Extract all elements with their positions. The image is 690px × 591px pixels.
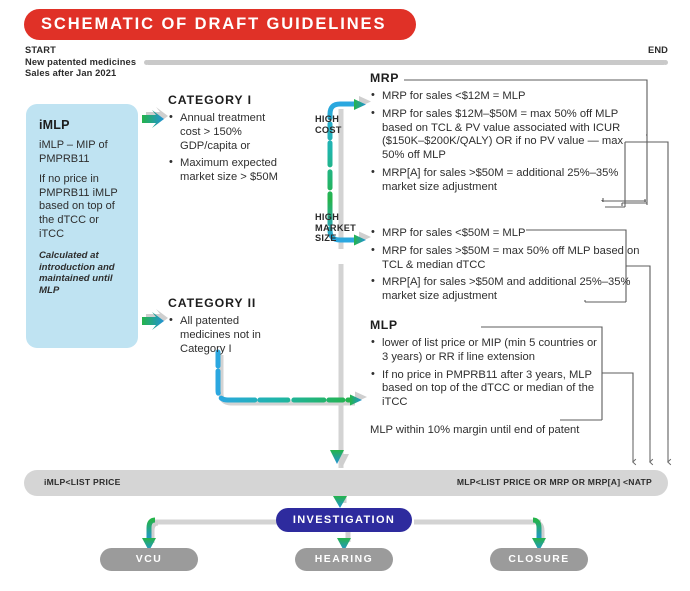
list-item: MRP for sales <$12M = MLP [370, 90, 645, 104]
bracket-level2-mlp [602, 373, 633, 440]
start-line2: New patented medicines [25, 57, 136, 69]
high-cost-label: HIGHCOST [315, 114, 342, 135]
category2-arrow-icon [142, 309, 168, 330]
vcu-elbow [149, 520, 155, 540]
summary-bar: iMLP<LIST PRICE MLP<LIST PRICE OR MRP OR… [24, 470, 668, 496]
imlp-note: Calculated at introduction and maintaine… [39, 250, 127, 296]
category2-path-shadow [221, 355, 355, 403]
mrp-block-1-bullets: MRP for sales <$12M = MLP MRP for sales … [370, 90, 645, 199]
mlp-entry-arrowhead [350, 392, 367, 406]
start-word: START [25, 45, 136, 57]
list-item: MRP[A] for sales >$50M and additional 25… [370, 276, 640, 304]
vcu-elbow-shadow [152, 523, 158, 543]
high-market-size-label: HIGHMARKETSIZE [315, 212, 356, 244]
bracket-down-arrows [633, 440, 668, 462]
timeline-track [146, 60, 666, 65]
imlp-box: iMLP iMLP – MIP of PMPRB11 If no price i… [26, 104, 138, 348]
start-line3: Sales after Jan 2021 [25, 68, 136, 80]
imlp-para-2: If no price in PMPRB11 iMLP based on top… [39, 173, 127, 241]
category2-heading: CATEGORY II [168, 296, 256, 310]
list-item: If no price in PMPRB11 after 3 years, ML… [370, 369, 605, 410]
timeline-end-label: END [648, 45, 668, 55]
outcome-closure: CLOSURE [490, 548, 588, 571]
list-item: MRP[A] for sales >$50M = additional 25%–… [370, 167, 645, 195]
mrp-heading: MRP [370, 71, 399, 85]
summary-left-text: iMLP<LIST PRICE [44, 477, 121, 487]
list-item: MRP for sales <$50M = MLP [370, 227, 640, 241]
summary-to-investigation-arrowhead [333, 496, 347, 508]
imlp-heading: iMLP [39, 118, 127, 132]
category1-bullets: Annual treatment cost > 150% GDP/capita … [168, 112, 288, 189]
mlp-block-bullets: lower of list price or MIP (min 5 countr… [370, 337, 605, 414]
category1-arrow-icon [142, 107, 168, 128]
schematic-canvas: SCHEMATIC OF DRAFT GUIDELINES START New … [0, 0, 690, 591]
list-item: MRP for sales >$50M = max 50% off MLP ba… [370, 245, 640, 273]
mlp-heading: MLP [370, 318, 398, 332]
list-item: MRP for sales $12M–$50M = max 50% off ML… [370, 108, 645, 163]
category2-bullets: All patented medicines not in Category I [168, 315, 288, 360]
list-item: Maximum expected market size > $50M [168, 157, 288, 185]
mlp-footnote: MLP within 10% margin until end of paten… [370, 424, 600, 438]
spine-to-summary-arrowhead [330, 450, 349, 468]
outcome-vcu: VCU [100, 548, 198, 571]
high-market-size-arrowhead [354, 232, 371, 246]
list-item: All patented medicines not in Category I [168, 315, 288, 356]
category1-heading: CATEGORY I [168, 93, 252, 107]
summary-right-text: MLP<LIST PRICE OR MRP OR MRP[A] <NATP [457, 477, 652, 487]
imlp-para-1: iMLP – MIP of PMPRB11 [39, 139, 127, 166]
timeline-start-label: START New patented medicines Sales after… [25, 45, 136, 80]
list-item: lower of list price or MIP (min 5 countr… [370, 337, 605, 365]
mrp-block-2-bullets: MRP for sales <$50M = MLP MRP for sales … [370, 227, 640, 308]
list-item: Annual treatment cost > 150% GDP/capita … [168, 112, 288, 153]
closure-elbow-shadow [536, 523, 542, 543]
investigation-node: INVESTIGATION [276, 508, 412, 532]
page-title: SCHEMATIC OF DRAFT GUIDELINES [24, 9, 416, 40]
high-cost-arrowhead [354, 96, 371, 110]
outcome-hearing: HEARING [295, 548, 393, 571]
closure-elbow [533, 520, 539, 540]
